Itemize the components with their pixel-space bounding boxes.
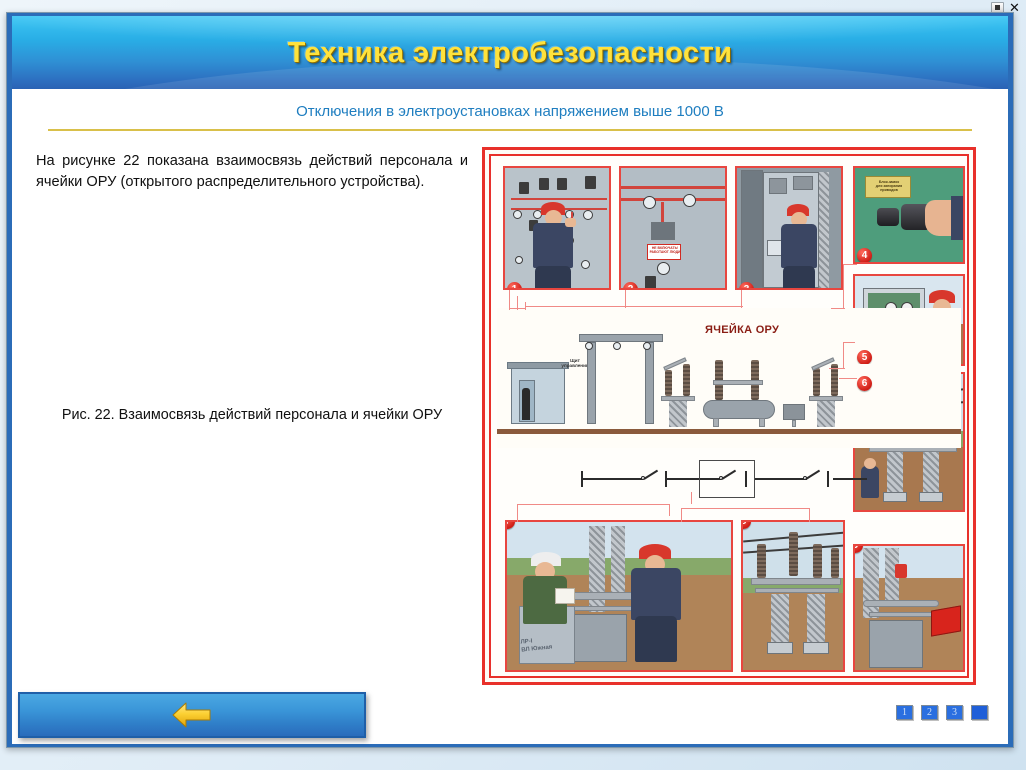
- insulator-stack: [665, 370, 672, 396]
- app-banner: Техника электробезопасности: [7, 13, 1013, 89]
- disconnector-symbol: [513, 210, 522, 219]
- connector-line: [625, 306, 743, 307]
- page-button-3[interactable]: 3: [946, 705, 963, 720]
- connector-line: [681, 508, 809, 509]
- panel-badge-3: 3: [739, 282, 754, 290]
- connector-line: [829, 368, 845, 369]
- connector-line: [843, 264, 857, 265]
- content-sheet: Отключения в электроустановках напряжени…: [7, 89, 1013, 748]
- operator-silhouette: [522, 388, 530, 420]
- panel-badge-6: 6: [857, 376, 872, 391]
- connector-line: [517, 504, 669, 505]
- breaker-crossbar: [713, 380, 763, 385]
- drive-box: [569, 614, 627, 662]
- support-tower: [863, 548, 879, 618]
- lock-sign-text: Блок-замок для запирания приводов: [867, 180, 911, 192]
- lock-cylinder-icon: [877, 208, 899, 226]
- bus-line: [511, 198, 607, 200]
- illustration-column: 1: [482, 141, 1008, 744]
- tank-support: [713, 418, 719, 427]
- disconnector-symbol: [581, 260, 590, 269]
- connector-line: [691, 492, 692, 504]
- schematic-terminal: [745, 471, 747, 487]
- gantry-leg: [645, 342, 654, 424]
- page-selector: 1 2 3 4: [896, 705, 988, 720]
- section-subtitle: Отключения в электроустановках напряжени…: [38, 103, 982, 120]
- poster-panel-1: 1: [503, 166, 611, 290]
- insulator-stack: [789, 532, 798, 576]
- cable-rack: [819, 172, 829, 288]
- insulator-stack: [813, 544, 822, 578]
- connector-line: [843, 264, 844, 308]
- warning-placard: [931, 605, 961, 636]
- desktop-background: ✕ Техника электробезопасности Отключения…: [0, 0, 1026, 770]
- support-tower: [807, 594, 825, 646]
- lock-sign: Блок-замок для запирания приводов: [865, 176, 911, 198]
- scene-ground: [497, 429, 961, 434]
- page-button-4[interactable]: 4: [971, 705, 988, 720]
- tank-support: [759, 418, 765, 427]
- worker-figure: [781, 224, 817, 268]
- scene-title-label: ЯЧЕЙКА ОРУ: [705, 324, 779, 336]
- panel-badge-4: 4: [857, 248, 872, 263]
- disconnector-symbol: [515, 256, 523, 264]
- insulator-stack: [831, 548, 839, 578]
- schematic-terminal: [827, 471, 829, 487]
- panel-badge-2: 2: [623, 282, 638, 290]
- schematic-line: [665, 478, 703, 480]
- relay-box: [769, 178, 787, 194]
- close-button[interactable]: ✕: [1007, 2, 1022, 13]
- panel-ground: [743, 593, 843, 670]
- body-paragraph: На рисунке 22 показана взаимосвязь дейст…: [36, 151, 468, 192]
- drive-box: [869, 620, 923, 668]
- padlock-icon: [895, 564, 907, 578]
- connector-line: [509, 308, 525, 309]
- footer-bar: 1 2 3 4: [12, 692, 1008, 744]
- switch-symbol: [557, 178, 567, 190]
- connector-line: [831, 308, 845, 309]
- switch-symbol: [585, 176, 596, 189]
- concrete-base: [803, 642, 829, 654]
- worker-legs: [635, 616, 677, 662]
- schematic-disconnector-blade: [805, 470, 820, 480]
- back-arrow-icon: [170, 700, 214, 730]
- subtitle-area: Отключения в электроустановках напряжени…: [12, 89, 1008, 131]
- connector-line: [843, 342, 855, 343]
- worker-hand-icon: [565, 218, 576, 227]
- relay-box: [793, 176, 813, 190]
- connector-line: [525, 306, 625, 307]
- connector-line: [509, 290, 510, 310]
- drive-linkage: [863, 600, 939, 607]
- suspension-insulator: [613, 342, 621, 350]
- body-columns: На рисунке 22 показана взаимосвязь дейст…: [12, 141, 1008, 744]
- switch-symbol: [539, 178, 549, 190]
- schematic-disconnector-blade: [643, 470, 658, 480]
- worker-legs: [783, 266, 815, 290]
- connector-line: [809, 508, 810, 522]
- breaker-control-cubicle: [783, 404, 805, 420]
- substation-scene: Щит управления: [497, 308, 961, 448]
- suspension-insulator: [643, 342, 651, 350]
- contact-bar: [751, 578, 841, 585]
- switchgear-cabinet: [741, 170, 763, 290]
- figure-caption: Рис. 22. Взаимосвязь действий персонала …: [36, 406, 468, 425]
- drive-linkage: [869, 612, 933, 617]
- bus-line: [621, 198, 727, 201]
- disconnector-symbol: [643, 196, 656, 209]
- text-column: На рисунке 22 показана взаимосвязь дейст…: [12, 141, 482, 744]
- schematic-line: [833, 478, 867, 480]
- contact-bar: [755, 588, 839, 593]
- warning-sign: НЕ ВКЛЮЧАТЬ! РАБОТАЮТ ЛЮДИ: [647, 244, 681, 260]
- switch-symbol: [519, 182, 529, 194]
- minimize-icon: [995, 5, 1000, 10]
- concrete-base: [767, 642, 793, 654]
- schematic-line: [755, 478, 807, 480]
- cubicle-stand: [792, 420, 796, 427]
- disconnector-symbol: [657, 262, 670, 275]
- poster-figure: 1: [482, 147, 976, 685]
- panel-badge-5: 5: [857, 350, 872, 365]
- poster-panel-8: 8: [741, 520, 845, 672]
- bus-line: [621, 186, 727, 189]
- drop-line: [661, 202, 664, 224]
- poster-panel-9: 9: [853, 544, 965, 672]
- schematic-line: [581, 478, 643, 480]
- support-tower: [669, 401, 687, 427]
- poster-panel-7: ЛР-I ВЛ Южная 7: [505, 520, 733, 672]
- disconnector-symbol: [683, 194, 696, 207]
- warning-sign-text: НЕ ВКЛЮЧАТЬ! РАБОТАЮТ ЛЮДИ: [649, 247, 681, 254]
- subtitle-divider: [48, 129, 972, 131]
- insulator-stack: [757, 544, 766, 578]
- worker-figure: [631, 568, 681, 620]
- poster-panel-4: Блок-замок для запирания приводов 4: [853, 166, 965, 264]
- suspension-insulator: [585, 342, 593, 350]
- breaker-tank: [703, 400, 775, 419]
- support-tower: [611, 526, 625, 600]
- minimize-button[interactable]: [991, 2, 1004, 13]
- poster-panel-2: НЕ ВКЛЮЧАТЬ! РАБОТАЮТ ЛЮДИ 2: [619, 166, 727, 290]
- connector-line: [843, 342, 844, 368]
- application-window: Техника электробезопасности Отключения в…: [6, 12, 1014, 748]
- single-line-schematic: [581, 456, 937, 504]
- panel-badge-1: 1: [507, 282, 522, 290]
- worker-figure: [533, 223, 573, 268]
- page-button-2[interactable]: 2: [921, 705, 938, 720]
- gantry-leg: [587, 342, 596, 424]
- page-button-1[interactable]: 1: [896, 705, 913, 720]
- insulator-stack: [683, 364, 690, 396]
- worker-legs: [535, 266, 571, 290]
- support-tower: [817, 401, 835, 427]
- poster-panel-3: 3: [735, 166, 843, 290]
- connector-line: [669, 504, 670, 516]
- insulator-stack: [813, 368, 820, 396]
- clipboard-icon: [555, 588, 575, 604]
- back-button[interactable]: [18, 692, 366, 738]
- page-title: Техника электробезопасности: [12, 16, 1008, 89]
- poster-inner-frame: 1: [489, 154, 969, 678]
- connector-line: [517, 504, 518, 522]
- drive-cabinet: [651, 222, 675, 240]
- gantry-crossarm: [579, 334, 663, 342]
- connector-line: [839, 378, 857, 379]
- switch-symbol: [645, 276, 656, 289]
- disconnector-symbol: [583, 210, 593, 220]
- support-tower: [771, 594, 789, 646]
- connector-line: [681, 508, 682, 522]
- sleeve-icon: [951, 196, 965, 240]
- schematic-line: [701, 478, 721, 480]
